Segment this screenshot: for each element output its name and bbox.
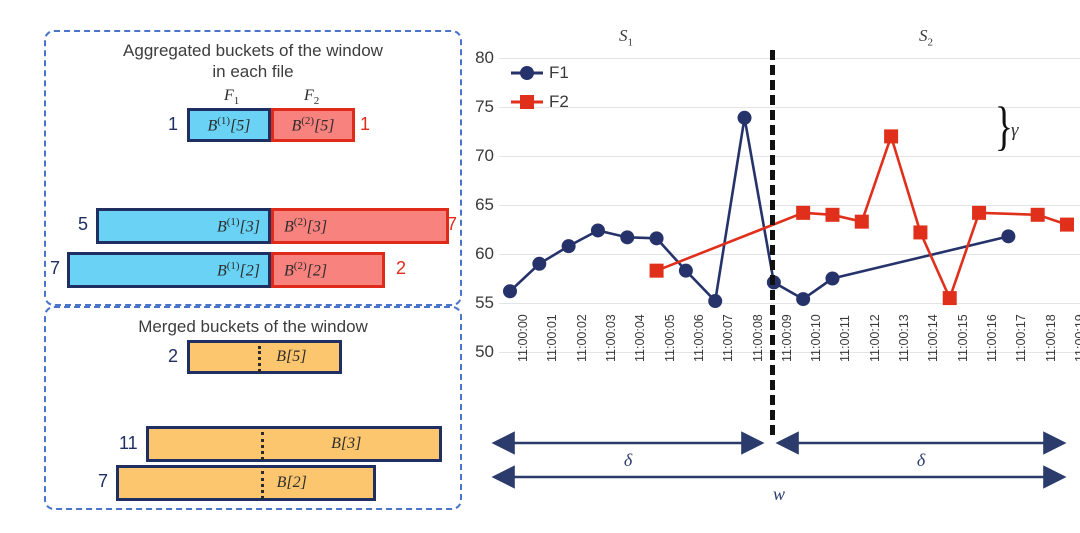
x-tick-16: 11:00:16 bbox=[985, 314, 999, 362]
x-tick-5: 11:00:05 bbox=[663, 314, 677, 362]
merged-buckets-panel: Merged buckets of the window 2 B[5] 11 B… bbox=[44, 306, 462, 510]
data-point-F1-1[interactable] bbox=[532, 257, 546, 271]
data-point-F1-2[interactable] bbox=[562, 239, 576, 253]
span-arrows bbox=[466, 425, 1080, 525]
x-tick-14: 11:00:14 bbox=[926, 314, 940, 362]
legend-item-f1[interactable]: F1 bbox=[510, 63, 569, 83]
row1-left-count: 1 bbox=[168, 114, 178, 135]
merged-row1-bar: B[5] bbox=[187, 340, 342, 374]
merged-row3-count: 7 bbox=[98, 471, 108, 492]
data-point-F2-4[interactable] bbox=[884, 129, 898, 143]
x-tick-2: 11:00:02 bbox=[575, 314, 589, 362]
x-tick-4: 11:00:04 bbox=[633, 314, 647, 362]
legend-marker-f2-icon bbox=[510, 93, 544, 111]
data-point-F1-11[interactable] bbox=[825, 272, 839, 286]
row1-bar-f2-label: B(2)[5] bbox=[274, 115, 352, 135]
data-point-F2-7[interactable] bbox=[972, 206, 986, 220]
data-point-F2-5[interactable] bbox=[913, 225, 927, 239]
aggregated-buckets-title: Aggregated buckets of the window in each… bbox=[46, 40, 460, 83]
segment-label-s1: S1 bbox=[619, 26, 633, 48]
row1-right-count: 1 bbox=[360, 114, 370, 135]
merged-row3-bar: B[2] bbox=[116, 465, 376, 501]
merged-row2-bar: B[3] bbox=[146, 426, 442, 462]
row2-right-count: 7 bbox=[447, 214, 457, 235]
x-tick-10: 11:00:10 bbox=[809, 314, 823, 362]
aggregated-buckets-title-line2: in each file bbox=[212, 62, 293, 81]
row2-left-count: 5 bbox=[78, 214, 88, 235]
x-tick-11: 11:00:11 bbox=[838, 315, 852, 362]
file-header-f1: F1 bbox=[224, 87, 239, 107]
data-point-F1-4[interactable] bbox=[620, 230, 634, 244]
file-header-f2: F2 bbox=[304, 87, 319, 107]
merged-row3-label: B[2] bbox=[119, 474, 373, 492]
data-point-F1-5[interactable] bbox=[650, 231, 664, 245]
row3-bar-f2-label: B(2)[2] bbox=[274, 260, 382, 280]
x-tick-17: 11:00:17 bbox=[1014, 314, 1028, 362]
row2-bar-f1: B(1)[3] bbox=[96, 208, 271, 244]
delta-left-label: δ bbox=[624, 450, 632, 471]
x-tick-6: 11:00:06 bbox=[692, 314, 706, 362]
aggregated-buckets-panel: Aggregated buckets of the window in each… bbox=[44, 30, 462, 306]
row3-right-count: 2 bbox=[396, 258, 406, 279]
row1-bar-f1: B(1)[5] bbox=[187, 108, 271, 142]
x-tick-15: 11:00:15 bbox=[956, 314, 970, 362]
merged-row1-count: 2 bbox=[168, 346, 178, 367]
data-point-F1-7[interactable] bbox=[708, 294, 722, 308]
merged-row1-divider bbox=[258, 346, 261, 372]
row2-bar-f2: B(2)[3] bbox=[271, 208, 449, 244]
aggregated-buckets-title-line1: Aggregated buckets of the window bbox=[123, 41, 383, 60]
figure-root: Aggregated buckets of the window in each… bbox=[0, 0, 1080, 533]
x-tick-0: 11:00:00 bbox=[516, 314, 530, 362]
x-tick-8: 11:00:08 bbox=[751, 314, 765, 362]
row1-bar-f2: B(2)[5] bbox=[271, 108, 355, 142]
data-point-F1-12[interactable] bbox=[1001, 229, 1015, 243]
x-tick-7: 11:00:07 bbox=[721, 314, 735, 362]
data-point-F2-0[interactable] bbox=[650, 264, 664, 278]
gamma-label: γ bbox=[1011, 120, 1019, 142]
data-point-F2-6[interactable] bbox=[943, 291, 957, 305]
row3-bar-f1: B(1)[2] bbox=[67, 252, 271, 288]
merged-buckets-title: Merged buckets of the window bbox=[46, 316, 460, 337]
data-point-F1-0[interactable] bbox=[503, 284, 517, 298]
x-tick-3: 11:00:03 bbox=[604, 314, 618, 362]
x-tick-13: 11:00:13 bbox=[897, 314, 911, 362]
x-tick-1: 11:00:01 bbox=[545, 314, 559, 362]
merged-row2-count: 11 bbox=[119, 433, 138, 454]
x-tick-19: 11:00:19 bbox=[1073, 314, 1080, 362]
merged-row1-label: B[5] bbox=[190, 348, 339, 366]
legend-label-f2: F2 bbox=[549, 92, 569, 112]
data-point-F1-3[interactable] bbox=[591, 223, 605, 237]
merged-row3-divider bbox=[261, 471, 264, 499]
x-tick-18: 11:00:18 bbox=[1044, 314, 1058, 362]
legend-marker-f1-icon bbox=[510, 64, 544, 82]
segment-label-s2: S2 bbox=[919, 26, 933, 48]
x-tick-12: 11:00:12 bbox=[868, 314, 882, 362]
merged-row2-label: B[3] bbox=[149, 435, 439, 453]
row3-bar-f2: B(2)[2] bbox=[271, 252, 385, 288]
data-point-F2-1[interactable] bbox=[796, 206, 810, 220]
row1-bar-f1-label: B(1)[5] bbox=[190, 115, 268, 135]
data-point-F1-6[interactable] bbox=[679, 264, 693, 278]
row2-bar-f1-label: B(1)[3] bbox=[99, 216, 268, 236]
data-point-F2-8[interactable] bbox=[1031, 208, 1045, 222]
row3-bar-f1-label: B(1)[2] bbox=[70, 260, 268, 280]
delta-right-label: δ bbox=[917, 450, 925, 471]
series-line-F1 bbox=[510, 118, 1008, 301]
window-label: w bbox=[773, 484, 785, 505]
data-point-F1-8[interactable] bbox=[738, 111, 752, 125]
row3-left-count: 7 bbox=[50, 258, 60, 279]
legend-label-f1: F1 bbox=[549, 63, 569, 83]
segment-split-line bbox=[770, 50, 775, 435]
time-series-chart: 80757065605550 S1 S2 } γ F1 F bbox=[466, 0, 1080, 533]
row2-bar-f2-label: B(2)[3] bbox=[274, 216, 446, 236]
data-point-F2-3[interactable] bbox=[855, 215, 869, 229]
merged-row2-divider bbox=[261, 432, 264, 460]
legend-item-f2[interactable]: F2 bbox=[510, 92, 569, 112]
data-point-F2-9[interactable] bbox=[1060, 218, 1074, 232]
x-tick-9: 11:00:09 bbox=[780, 314, 794, 362]
data-point-F2-2[interactable] bbox=[825, 208, 839, 222]
data-point-F1-10[interactable] bbox=[796, 292, 810, 306]
